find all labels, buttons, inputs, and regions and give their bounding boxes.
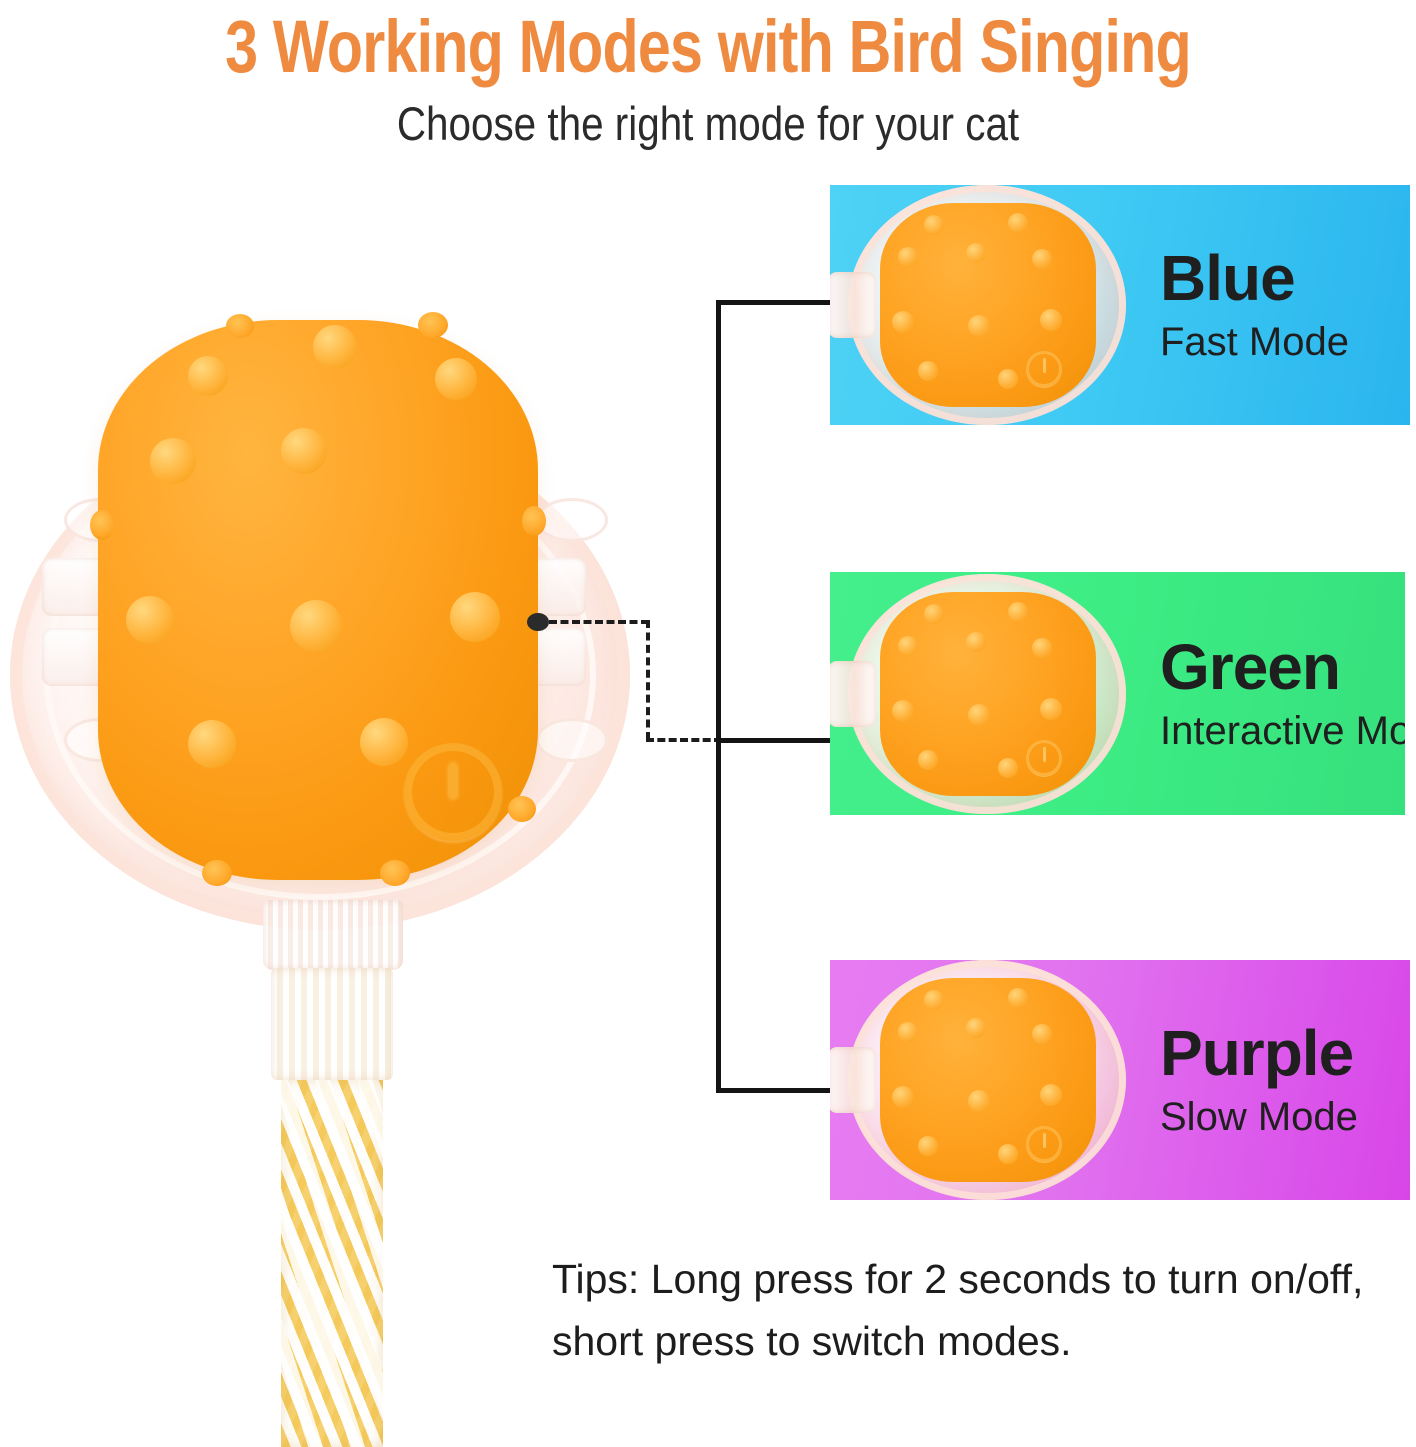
pad-bump <box>126 596 174 644</box>
pad-bump <box>966 1018 986 1038</box>
callout-dashed-line <box>646 738 722 742</box>
handle-grip <box>271 968 393 1080</box>
pad-bump <box>898 1022 918 1042</box>
mode-name-green: Green <box>1160 632 1405 702</box>
pad-bump <box>968 1090 990 1112</box>
pad-edge-bump <box>522 506 546 536</box>
shell-vent <box>536 718 608 762</box>
pad-bump <box>1008 988 1028 1008</box>
power-button-icon[interactable] <box>1026 351 1062 387</box>
pad-bump <box>998 369 1018 389</box>
mode-desc-purple: Slow Mode <box>1160 1092 1358 1142</box>
shell-vent <box>536 498 608 542</box>
pad-edge-bump <box>508 796 536 822</box>
page-subtitle: Choose the right mode for your cat <box>99 96 1317 152</box>
pad-bump <box>924 990 944 1010</box>
pad-bump <box>898 247 918 267</box>
pad-edge-bump <box>202 860 232 886</box>
mode-label-group-green: Green Interactive Mode <box>1160 632 1405 756</box>
callout-branch-blue <box>716 300 832 305</box>
pad-bump <box>918 750 938 770</box>
pad-bump <box>1040 1084 1062 1106</box>
tips-line-2: short press to switch modes. <box>552 1310 1252 1372</box>
pad-bump <box>968 704 990 726</box>
callout-branch-purple <box>716 1088 832 1093</box>
callout-bracket <box>716 300 721 1091</box>
pad-bump <box>892 1086 914 1108</box>
mode-thumbnail-blue <box>830 185 1150 425</box>
thumb-side-nub <box>830 661 876 727</box>
callout-dashed-line <box>549 620 649 624</box>
pad-bump <box>898 636 918 656</box>
pad-bump <box>188 356 228 396</box>
pad-bump <box>1032 249 1052 269</box>
pad-edge-bump <box>90 510 114 540</box>
mode-thumbnail-purple <box>830 960 1150 1200</box>
pad-bump <box>998 758 1018 778</box>
power-button-icon[interactable] <box>1026 1126 1062 1162</box>
pad-bump <box>281 428 327 474</box>
pad-bump <box>1008 602 1028 622</box>
mode-panel-green: Green Interactive Mode <box>830 572 1405 815</box>
power-button-icon[interactable] <box>1026 740 1062 776</box>
pad-bump <box>892 311 914 333</box>
mode-label-group-blue: Blue Fast Mode <box>1160 243 1349 367</box>
callout-anchor-dot <box>527 613 549 631</box>
pad-bump <box>1008 213 1028 233</box>
thumb-side-nub <box>830 1047 876 1113</box>
pad-bump <box>918 1136 938 1156</box>
infographic-page: 3 Working Modes with Bird Singing Choose… <box>0 0 1416 1447</box>
mode-panel-purple: Purple Slow Mode <box>830 960 1410 1200</box>
mode-thumbnail-green <box>830 572 1150 815</box>
mode-panel-blue: Blue Fast Mode <box>830 185 1410 425</box>
pad-bump <box>966 243 986 263</box>
pad-bump <box>1040 698 1062 720</box>
mode-name-blue: Blue <box>1160 243 1349 313</box>
pad-bump <box>924 604 944 624</box>
mode-desc-blue: Fast Mode <box>1160 317 1349 367</box>
pad-bump <box>968 315 990 337</box>
pad-bump <box>918 361 938 381</box>
pad-bump <box>150 438 196 484</box>
thumb-rubber-pad <box>880 592 1096 796</box>
pad-edge-bump <box>380 860 410 886</box>
pad-bump <box>966 632 986 652</box>
tips-text: Tips: Long press for 2 seconds to turn o… <box>552 1248 1252 1372</box>
mode-desc-green: Interactive Mode <box>1160 706 1405 756</box>
pad-bump <box>998 1144 1018 1164</box>
power-button-icon[interactable] <box>404 743 502 841</box>
handle-collar <box>263 900 403 970</box>
pad-bump <box>188 720 236 768</box>
thumb-side-nub <box>830 272 876 338</box>
thumb-rubber-pad <box>880 978 1096 1182</box>
pad-bump <box>892 700 914 722</box>
pad-bump <box>1032 638 1052 658</box>
mode-label-group-purple: Purple Slow Mode <box>1160 1018 1358 1142</box>
pad-edge-bump <box>226 314 254 338</box>
handle-rod <box>281 1080 383 1447</box>
mode-name-purple: Purple <box>1160 1018 1358 1088</box>
pad-bump <box>313 325 357 369</box>
tips-line-1: Tips: Long press for 2 seconds to turn o… <box>552 1248 1252 1310</box>
pad-bump <box>1032 1024 1052 1044</box>
pad-bump <box>435 358 477 400</box>
thumb-rubber-pad <box>880 203 1096 407</box>
pad-bump <box>290 600 342 652</box>
pad-bump <box>1040 309 1062 331</box>
pad-bump <box>450 592 500 642</box>
pad-edge-bump <box>418 312 448 338</box>
pad-bump <box>360 718 408 766</box>
callout-dashed-line <box>646 620 650 740</box>
page-title: 3 Working Modes with Bird Singing <box>142 4 1275 90</box>
callout-branch-green <box>716 738 832 743</box>
pad-bump <box>924 215 944 235</box>
